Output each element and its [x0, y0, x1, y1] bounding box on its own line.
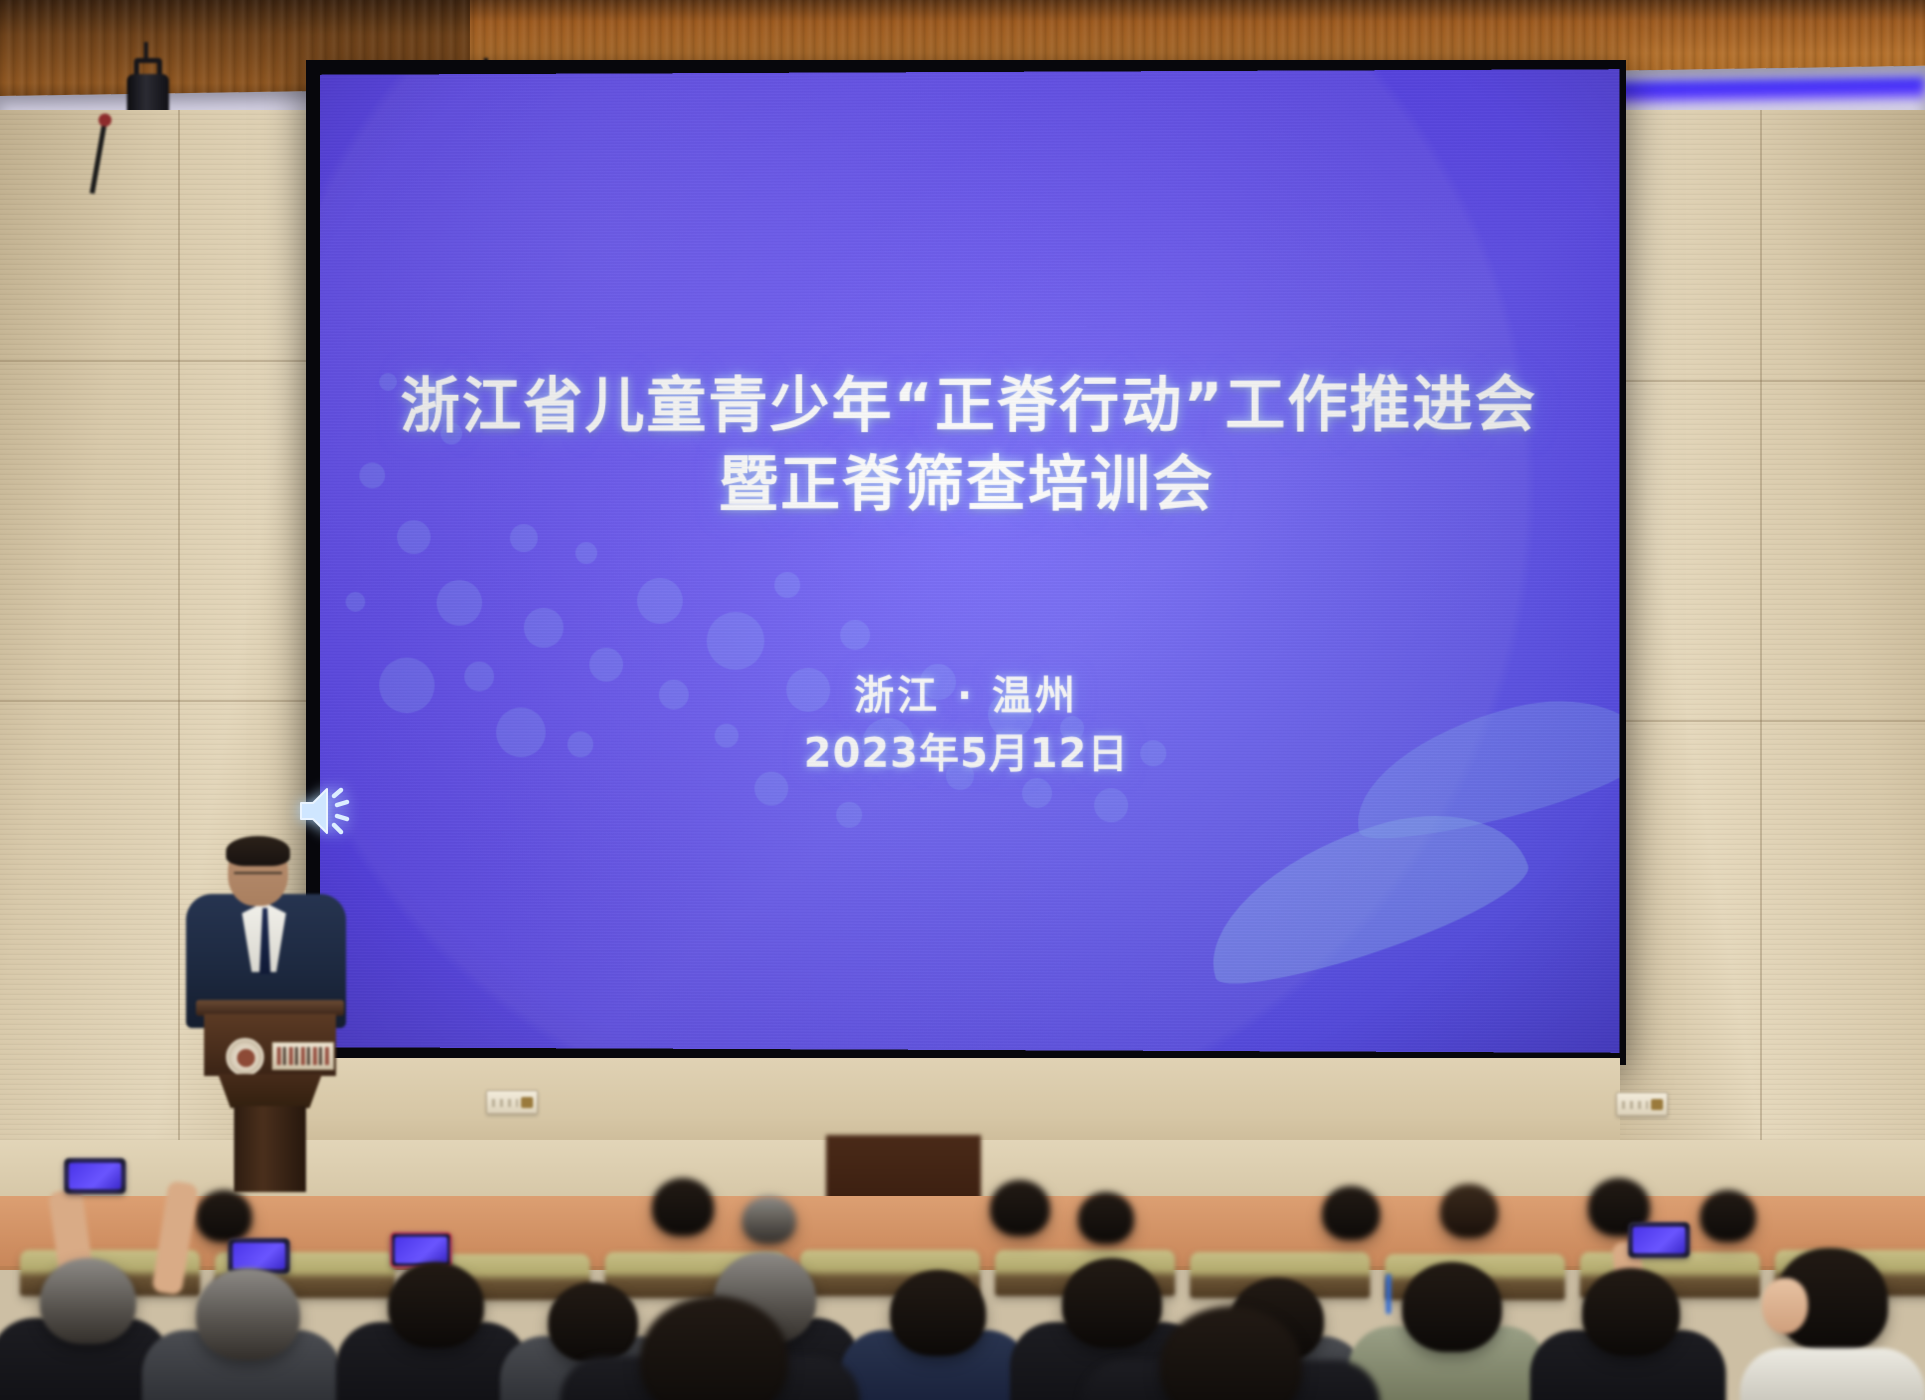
slide-title-line2: 暨正脊筛查培训会: [320, 446, 1620, 526]
presenter-hair: [226, 836, 290, 866]
screen-dot: [575, 542, 597, 564]
audience-head: [1582, 1268, 1680, 1356]
wall-outlet: [1616, 1092, 1668, 1116]
wall-outlet: [486, 1090, 538, 1114]
screen-dot: [840, 620, 870, 650]
institution-emblem: [226, 1038, 264, 1076]
audience-head: [40, 1258, 136, 1344]
audience-face: [1762, 1278, 1808, 1334]
audience-head: [1700, 1190, 1756, 1242]
slide-title: 浙江省儿童青少年“正脊行动”工作推进会 暨正脊筛查培训会: [320, 366, 1620, 526]
photo-canvas: 浙江省儿童青少年“正脊行动”工作推进会 暨正脊筛查培训会 浙江 · 温州 202…: [0, 0, 1925, 1400]
audience-head: [196, 1268, 300, 1360]
slide-date: 2023年5月12日: [320, 724, 1620, 784]
audience-head: [196, 1190, 252, 1242]
audience-head: [1440, 1184, 1498, 1238]
wall-seam: [178, 110, 180, 1170]
led-presentation-screen[interactable]: 浙江省儿童青少年“正脊行动”工作推进会 暨正脊筛查培训会 浙江 · 温州 202…: [320, 69, 1620, 1053]
screen-dot: [637, 578, 683, 624]
screen-dot: [836, 802, 862, 828]
screen-dot: [774, 572, 800, 598]
wall-seam: [0, 700, 352, 702]
audience-phone: [1628, 1222, 1690, 1258]
audience-head: [990, 1180, 1050, 1236]
lectern-front-panel: [204, 1014, 336, 1076]
audience-head: [388, 1262, 484, 1348]
volume-speaker-icon[interactable]: [297, 780, 357, 842]
wall-seam: [1590, 720, 1925, 722]
screen-dot: [524, 608, 564, 648]
lectern: [196, 1000, 344, 1190]
screen-dot: [707, 612, 765, 670]
screen-dot: [437, 580, 483, 626]
screen-dot: [1094, 788, 1128, 822]
audience-head: [548, 1282, 638, 1362]
audience-head: [1078, 1192, 1134, 1244]
wall-seam: [1760, 110, 1762, 1170]
lectern-skirt: [218, 1074, 322, 1108]
slide-meta: 浙江 · 温州 2023年5月12日: [320, 666, 1620, 784]
audience-head: [890, 1270, 986, 1356]
presenter-glasses: [234, 872, 282, 881]
audience-lanyard: [1386, 1274, 1391, 1314]
wall-right: [1590, 110, 1925, 1170]
audience-body: [1740, 1348, 1925, 1400]
lectern-column: [234, 1106, 306, 1192]
audience-head: [652, 1178, 714, 1236]
audience-head: [742, 1196, 796, 1244]
screen-dot: [510, 524, 538, 552]
wall-seam: [0, 360, 352, 362]
audience-head: [1322, 1186, 1380, 1240]
screen-dot: [346, 592, 366, 612]
slide-location: 浙江 · 温州: [854, 673, 1078, 719]
audience-head: [1062, 1258, 1162, 1348]
audience-head: [1402, 1262, 1502, 1352]
slide-title-line1: 浙江省儿童青少年“正脊行动”工作推进会: [400, 370, 1537, 442]
audience-phone: [64, 1158, 126, 1194]
institution-nameplate: [272, 1042, 334, 1070]
wall-seam: [1590, 380, 1925, 382]
